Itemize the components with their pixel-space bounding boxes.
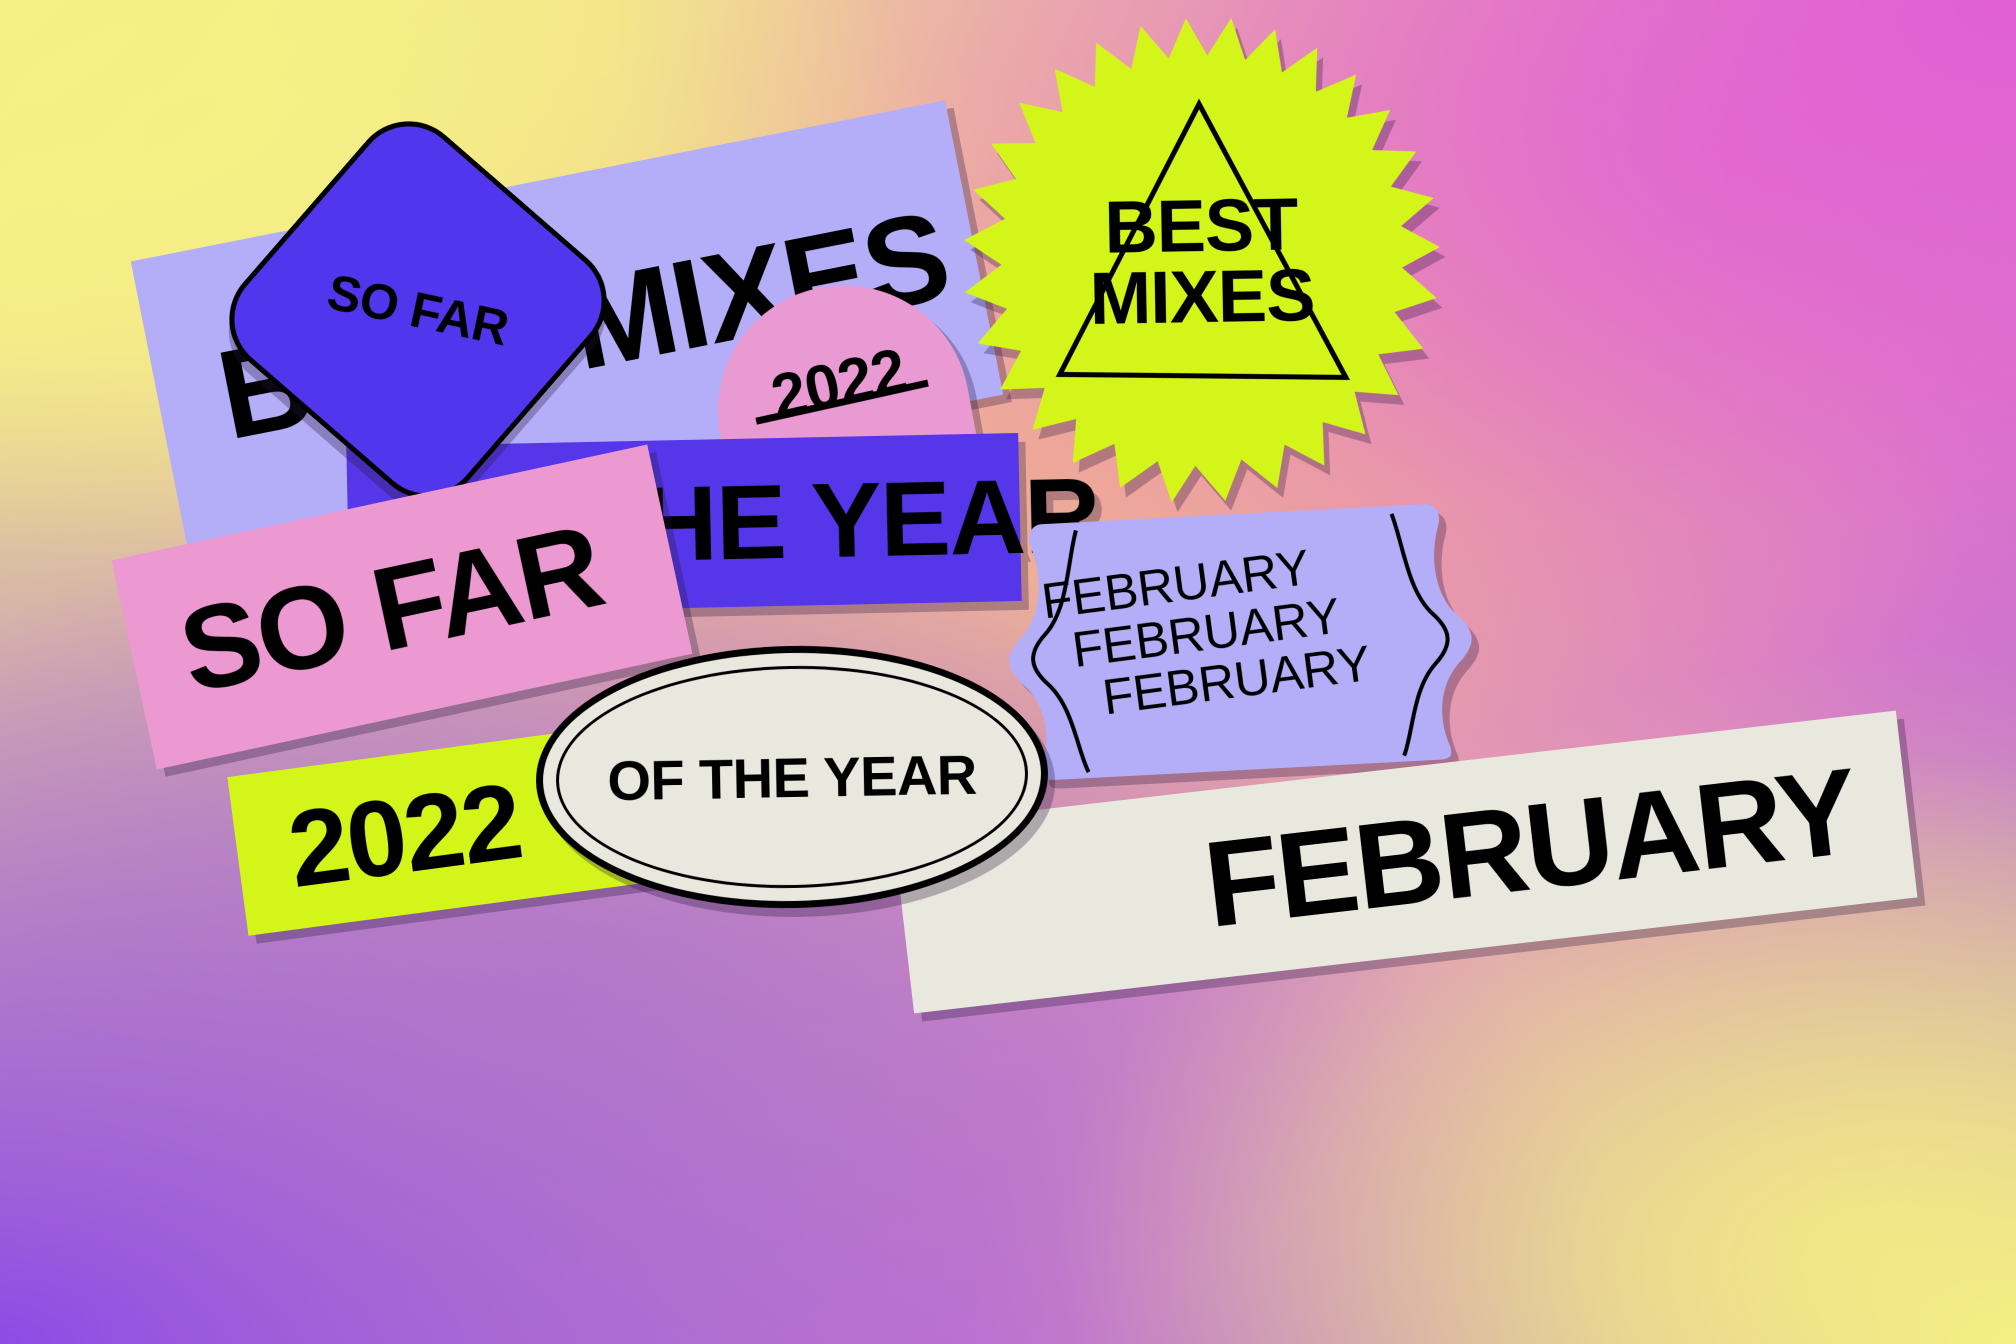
starburst-badge-label: BEST MIXES (940, 186, 1462, 337)
oval-of-the-year-label: OF THE YEAR (607, 741, 977, 812)
semicircle-year-label: 2022 (765, 334, 913, 433)
sticker-label-february[interactable]: FEBRUARY FEBRUARY FEBRUARY (983, 495, 1496, 789)
starburst-badge-line2: MIXES (941, 257, 1462, 337)
diamond-so-far-label: SO FAR (322, 263, 513, 358)
starburst-badge-line1: BEST (940, 186, 1461, 266)
band-year-label: 2022 (281, 757, 527, 912)
poster-canvas: BEST MIXES 2022 BEST MIXES OF THE YEAR S… (0, 0, 2016, 1344)
